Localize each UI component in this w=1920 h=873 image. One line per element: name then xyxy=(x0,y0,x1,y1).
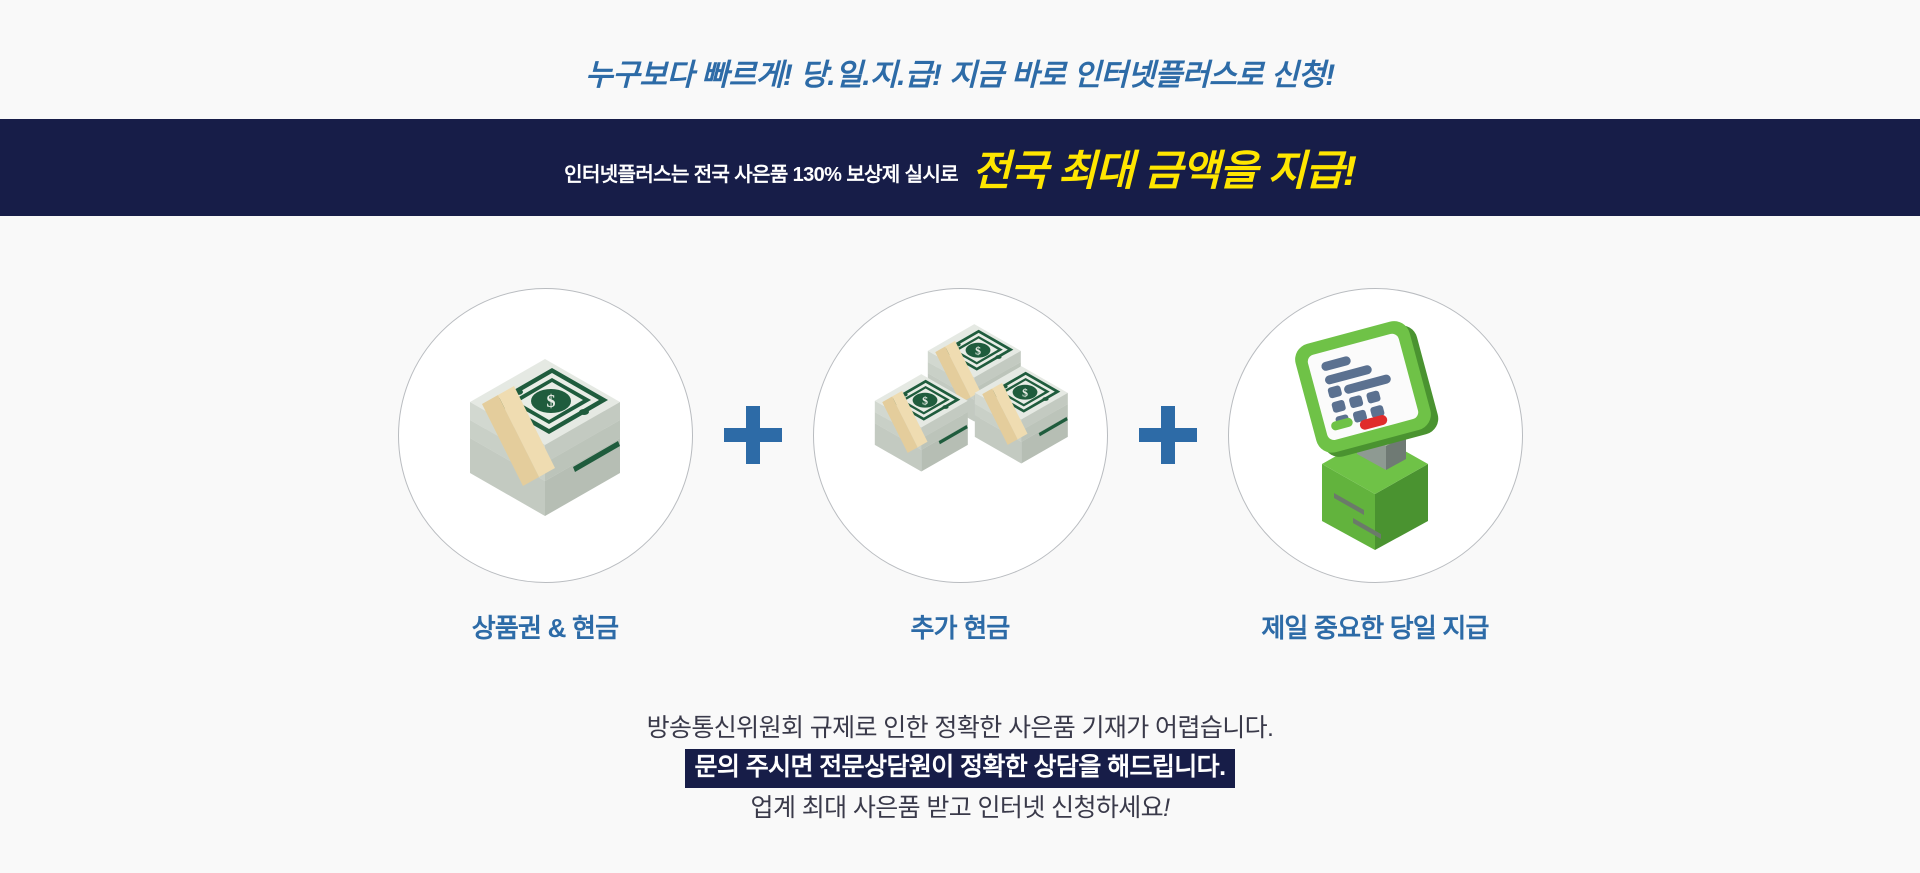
benefit-label-3: 제일 중요한 당일 지급 xyxy=(1225,608,1525,645)
footer-line-3: 업계 최대 사은품 받고 인터넷 신청하세요! xyxy=(0,792,1920,826)
promo-banner-page: 누구보다 빠르게! 당.일.지.급! 지금 바로 인터넷플러스로 신청! 인터넷… xyxy=(0,0,1920,873)
benefit-circle-2: $ xyxy=(813,288,1108,583)
footer-line-3-main: 업계 최대 사은품 받고 인터넷 신청하세요 xyxy=(751,794,1164,822)
benefit-labels-row: 상품권 & 현금 추가 현금 제일 중요한 당일 지급 xyxy=(0,608,1920,645)
banner-content: 인터넷플러스는 전국 사은품 130% 보상제 실시로 전국 최대 금액을 지급… xyxy=(564,137,1356,198)
benefit-item-3[interactable] xyxy=(1225,285,1525,585)
page-headline: 누구보다 빠르게! 당.일.지.급! 지금 바로 인터넷플러스로 신청! xyxy=(0,50,1920,94)
benefit-label-2: 추가 현금 xyxy=(810,608,1110,645)
footer-notice: 방송통신위원회 규제로 인한 정확한 사은품 기재가 어렵습니다. 문의 주시면… xyxy=(0,712,1920,826)
benefit-label-1: 상품권 & 현금 xyxy=(395,608,695,645)
atm-kiosk-icon xyxy=(1260,318,1490,553)
benefit-item-2[interactable]: $ xyxy=(810,285,1110,585)
plus-operator-1 xyxy=(695,406,810,464)
banner-subtext: 인터넷플러스는 전국 사은품 130% 보상제 실시로 xyxy=(564,158,958,187)
benefits-icon-row: $ xyxy=(0,280,1920,590)
plus-operator-2 xyxy=(1110,406,1225,464)
benefit-circle-3 xyxy=(1228,288,1523,583)
svg-text:$: $ xyxy=(1022,387,1028,400)
highlight-banner: 인터넷플러스는 전국 사은품 130% 보상제 실시로 전국 최대 금액을 지급… xyxy=(0,119,1920,216)
footer-line-2-highlight: 문의 주시면 전문상담원이 정확한 상담을 해드립니다. xyxy=(685,749,1236,789)
footer-line-3-tail: ! xyxy=(1163,794,1169,822)
money-bundle-stack-icon: $ xyxy=(845,320,1075,550)
benefit-item-1[interactable]: $ xyxy=(395,285,695,585)
benefit-circle-1: $ xyxy=(398,288,693,583)
svg-text:$: $ xyxy=(975,345,981,358)
svg-text:$: $ xyxy=(547,391,556,411)
money-bundle-single-icon: $ xyxy=(430,320,660,550)
footer-line-1: 방송통신위원회 규제로 인한 정확한 사은품 기재가 어렵습니다. xyxy=(0,712,1920,746)
svg-text:$: $ xyxy=(922,395,928,408)
banner-highlight-text: 전국 최대 금액을 지급! xyxy=(972,137,1356,198)
